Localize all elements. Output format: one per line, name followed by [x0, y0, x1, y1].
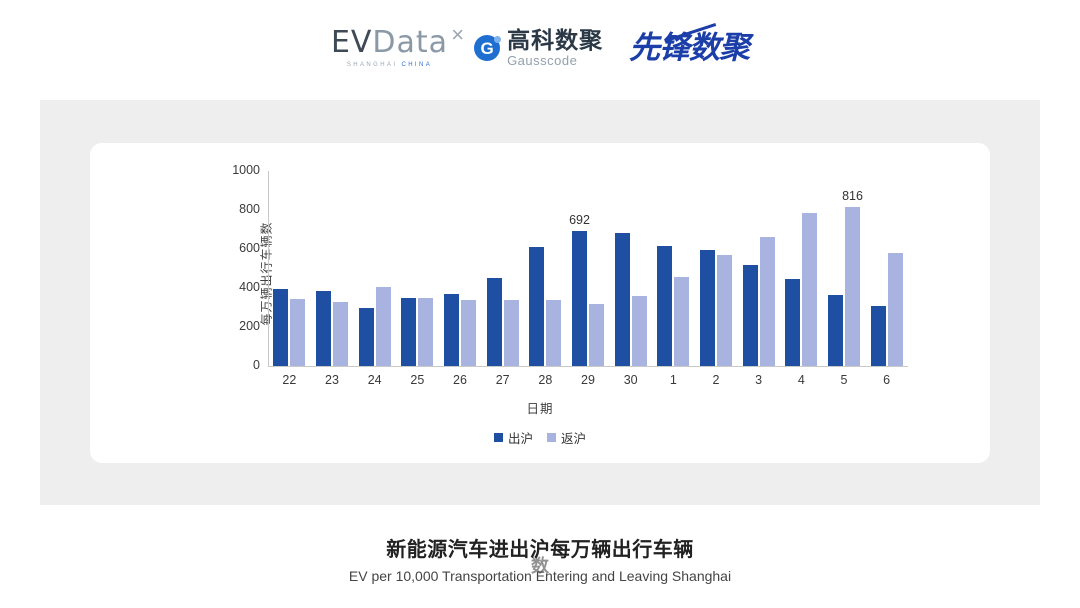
bar	[273, 289, 288, 366]
x-axis-tick-label: 26	[440, 373, 480, 387]
bar	[871, 306, 886, 366]
bar	[572, 231, 587, 366]
gausscode-en-name: Gausscode	[507, 54, 603, 67]
bar-group	[695, 250, 738, 366]
y-axis-tick-label: 600	[239, 241, 260, 255]
bar-group	[396, 298, 439, 366]
x-axis-tick-label: 28	[525, 373, 565, 387]
chart-legend: 出沪返沪	[90, 428, 990, 447]
gausscode-logo: G 高科数聚 Gausscode	[474, 30, 603, 67]
bar-group	[737, 237, 780, 366]
x-axis-tick-label: 5	[824, 373, 864, 387]
chart-card: 每万辆出行车辆数 02004006008001000 日期 出沪返沪 22232…	[90, 143, 990, 463]
caption-title-cn: 新能源汽车进出沪每万辆出行车辆	[0, 533, 1080, 562]
legend-swatch-icon	[547, 433, 556, 442]
bar	[845, 207, 860, 366]
x-axis-tick-label: 22	[269, 373, 309, 387]
evdata-sub-left: SHANGHAI	[347, 62, 402, 68]
y-axis-tick-label: 800	[239, 202, 260, 216]
x-axis-tick-label: 3	[739, 373, 779, 387]
x-axis-title: 日期	[90, 398, 990, 417]
bar	[615, 233, 630, 366]
bar	[785, 279, 800, 366]
bar-group	[652, 246, 695, 366]
legend-label: 出沪	[508, 428, 533, 447]
bar-group	[567, 231, 610, 366]
legend-swatch-icon	[494, 433, 503, 442]
bar	[444, 294, 459, 366]
bar-chart: 每万辆出行车辆数 02004006008001000 日期 出沪返沪 22232…	[90, 143, 990, 463]
x-axis-tick-label: 24	[355, 373, 395, 387]
bar	[802, 213, 817, 366]
gausscode-mark-icon: G	[474, 35, 500, 61]
evdata-data-text: Data	[372, 25, 448, 60]
bar	[546, 300, 561, 366]
x-axis-tick-label: 23	[312, 373, 352, 387]
x-axis-tick-label: 30	[611, 373, 651, 387]
bar-group	[311, 291, 354, 366]
bar-group	[481, 278, 524, 366]
bar	[760, 237, 775, 366]
bar	[743, 265, 758, 366]
bar-value-label: 692	[557, 213, 603, 227]
x-axis-tick-label: 6	[867, 373, 907, 387]
caption-title-en: EV per 10,000 Transportation Entering an…	[0, 568, 1080, 584]
legend-item[interactable]: 出沪	[494, 428, 533, 447]
chart-panel: 每万辆出行车辆数 02004006008001000 日期 出沪返沪 22232…	[40, 100, 1040, 505]
slide-page: EVData × SHANGHAI CHINA G 高科数聚 Gausscode…	[0, 0, 1080, 608]
bar	[376, 287, 391, 366]
evdata-ev-text: EV	[331, 25, 372, 60]
x-axis-line	[268, 366, 908, 367]
cross-icon: ×	[451, 22, 464, 48]
bar	[333, 302, 348, 366]
plot-area	[268, 171, 908, 366]
x-axis-tick-label: 4	[781, 373, 821, 387]
gausscode-text: 高科数聚 Gausscode	[507, 30, 603, 67]
legend-item[interactable]: 返沪	[547, 428, 586, 447]
xianfeng-logo: 先锋数聚	[629, 33, 749, 64]
bar-group	[268, 289, 311, 366]
logo-bar: EVData × SHANGHAI CHINA G 高科数聚 Gausscode…	[0, 18, 1080, 78]
bar-group	[353, 287, 396, 366]
evdata-wordmark: EVData	[331, 28, 448, 58]
evdata-logo: EVData × SHANGHAI CHINA	[331, 28, 448, 68]
bar-value-label: 816	[830, 189, 876, 203]
bar-group	[439, 294, 482, 366]
bar-group	[780, 213, 823, 366]
bar	[487, 278, 502, 366]
y-axis-tick-label: 200	[239, 319, 260, 333]
x-axis-tick-label: 29	[568, 373, 608, 387]
gausscode-cn-name: 高科数聚	[507, 30, 603, 53]
evdata-sub-right: CHINA	[401, 62, 432, 68]
evdata-sub-text: SHANGHAI CHINA	[347, 62, 432, 68]
bar	[504, 300, 519, 366]
y-axis-tick-label: 400	[239, 280, 260, 294]
x-axis-tick-label: 27	[483, 373, 523, 387]
y-axis-tick-label: 1000	[232, 163, 260, 177]
bar	[418, 298, 433, 366]
bar	[828, 295, 843, 366]
bar	[888, 253, 903, 366]
bar-group	[609, 233, 652, 366]
bar	[290, 299, 305, 366]
bar	[461, 300, 476, 366]
bar	[589, 304, 604, 366]
legend-label: 返沪	[561, 428, 586, 447]
x-axis-tick-label: 1	[653, 373, 693, 387]
bar	[657, 246, 672, 366]
x-axis-tick-label: 2	[696, 373, 736, 387]
bar	[700, 250, 715, 366]
bar-group	[865, 253, 908, 366]
bar-group	[524, 247, 567, 366]
bar	[359, 308, 374, 366]
x-axis-tick-label: 25	[397, 373, 437, 387]
bar	[674, 277, 689, 366]
bar	[529, 247, 544, 366]
xianfeng-text: 先锋数聚	[629, 30, 749, 66]
bar	[717, 255, 732, 366]
y-axis-tick-label: 0	[253, 358, 260, 372]
bar	[316, 291, 331, 366]
bar	[632, 296, 647, 366]
bar	[401, 298, 416, 366]
bar-group	[823, 207, 866, 366]
